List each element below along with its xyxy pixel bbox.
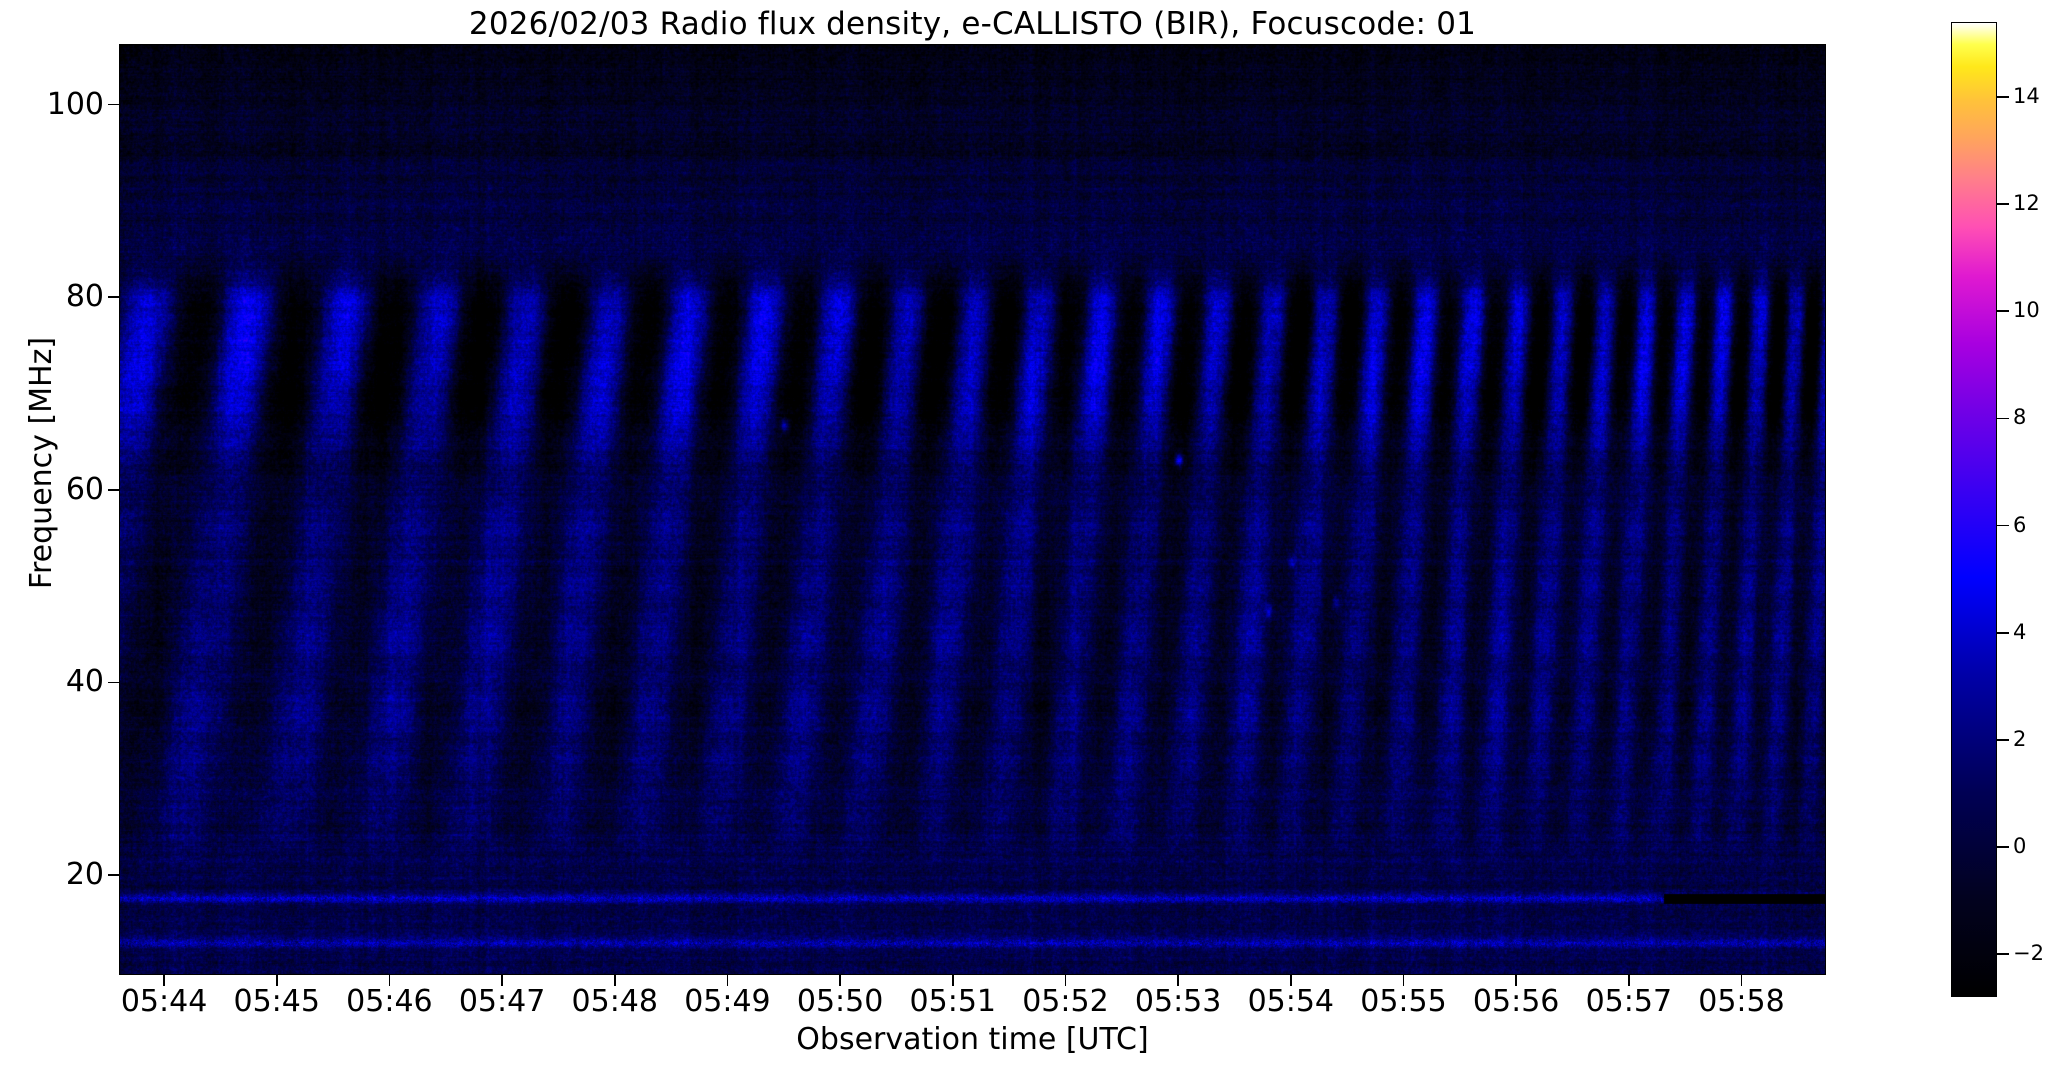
colorbar-tick-label: −2 [2013,943,2044,964]
page-title: 2026/02/03 Radio flux density, e-CALLIST… [119,6,1826,42]
colorbar-tick-mark [1997,418,2009,420]
colorbar-tick-mark [1997,739,2009,741]
colorbar-tick-label: 8 [2013,407,2026,428]
colorbar-tick-label: 4 [2013,622,2026,643]
y-tick-mark [108,104,119,106]
y-tick-mark [108,489,119,491]
y-tick-label: 20 [14,860,104,890]
y-tick-mark [108,874,119,876]
spectrogram-figure: 2026/02/03 Radio flux density, e-CALLIST… [0,0,2066,1067]
y-tick-label: 100 [14,90,104,120]
spectrogram-plot-area[interactable] [119,44,1826,975]
y-axis-label: Frequency [MHz] [27,203,57,723]
spectrogram-heatmap[interactable] [120,45,1826,975]
colorbar-tick-mark [1997,953,2009,955]
colorbar-tick-mark [1997,846,2009,848]
colorbar-tick-label: 2 [2013,729,2026,750]
colorbar-tick-mark [1997,203,2009,205]
colorbar-tick-mark [1997,96,2009,98]
colorbar-tick-label: 12 [2013,193,2040,214]
colorbar[interactable]: −202468101214 [1951,22,1997,997]
colorbar-tick-mark [1997,310,2009,312]
colorbar-tick-label: 6 [2013,515,2026,536]
x-tick-label: 05:58 [1661,986,1821,1018]
x-axis-label: Observation time [UTC] [119,1024,1826,1056]
colorbar-tick-label: 10 [2013,300,2040,321]
y-tick-mark [108,296,119,298]
colorbar-tick-label: 0 [2013,836,2026,857]
y-tick-mark [108,682,119,684]
colorbar-tick-mark [1997,632,2009,634]
colorbar-tick-label: 14 [2013,86,2040,107]
colorbar-tick-mark [1997,525,2009,527]
colorbar-gradient [1951,22,1997,997]
